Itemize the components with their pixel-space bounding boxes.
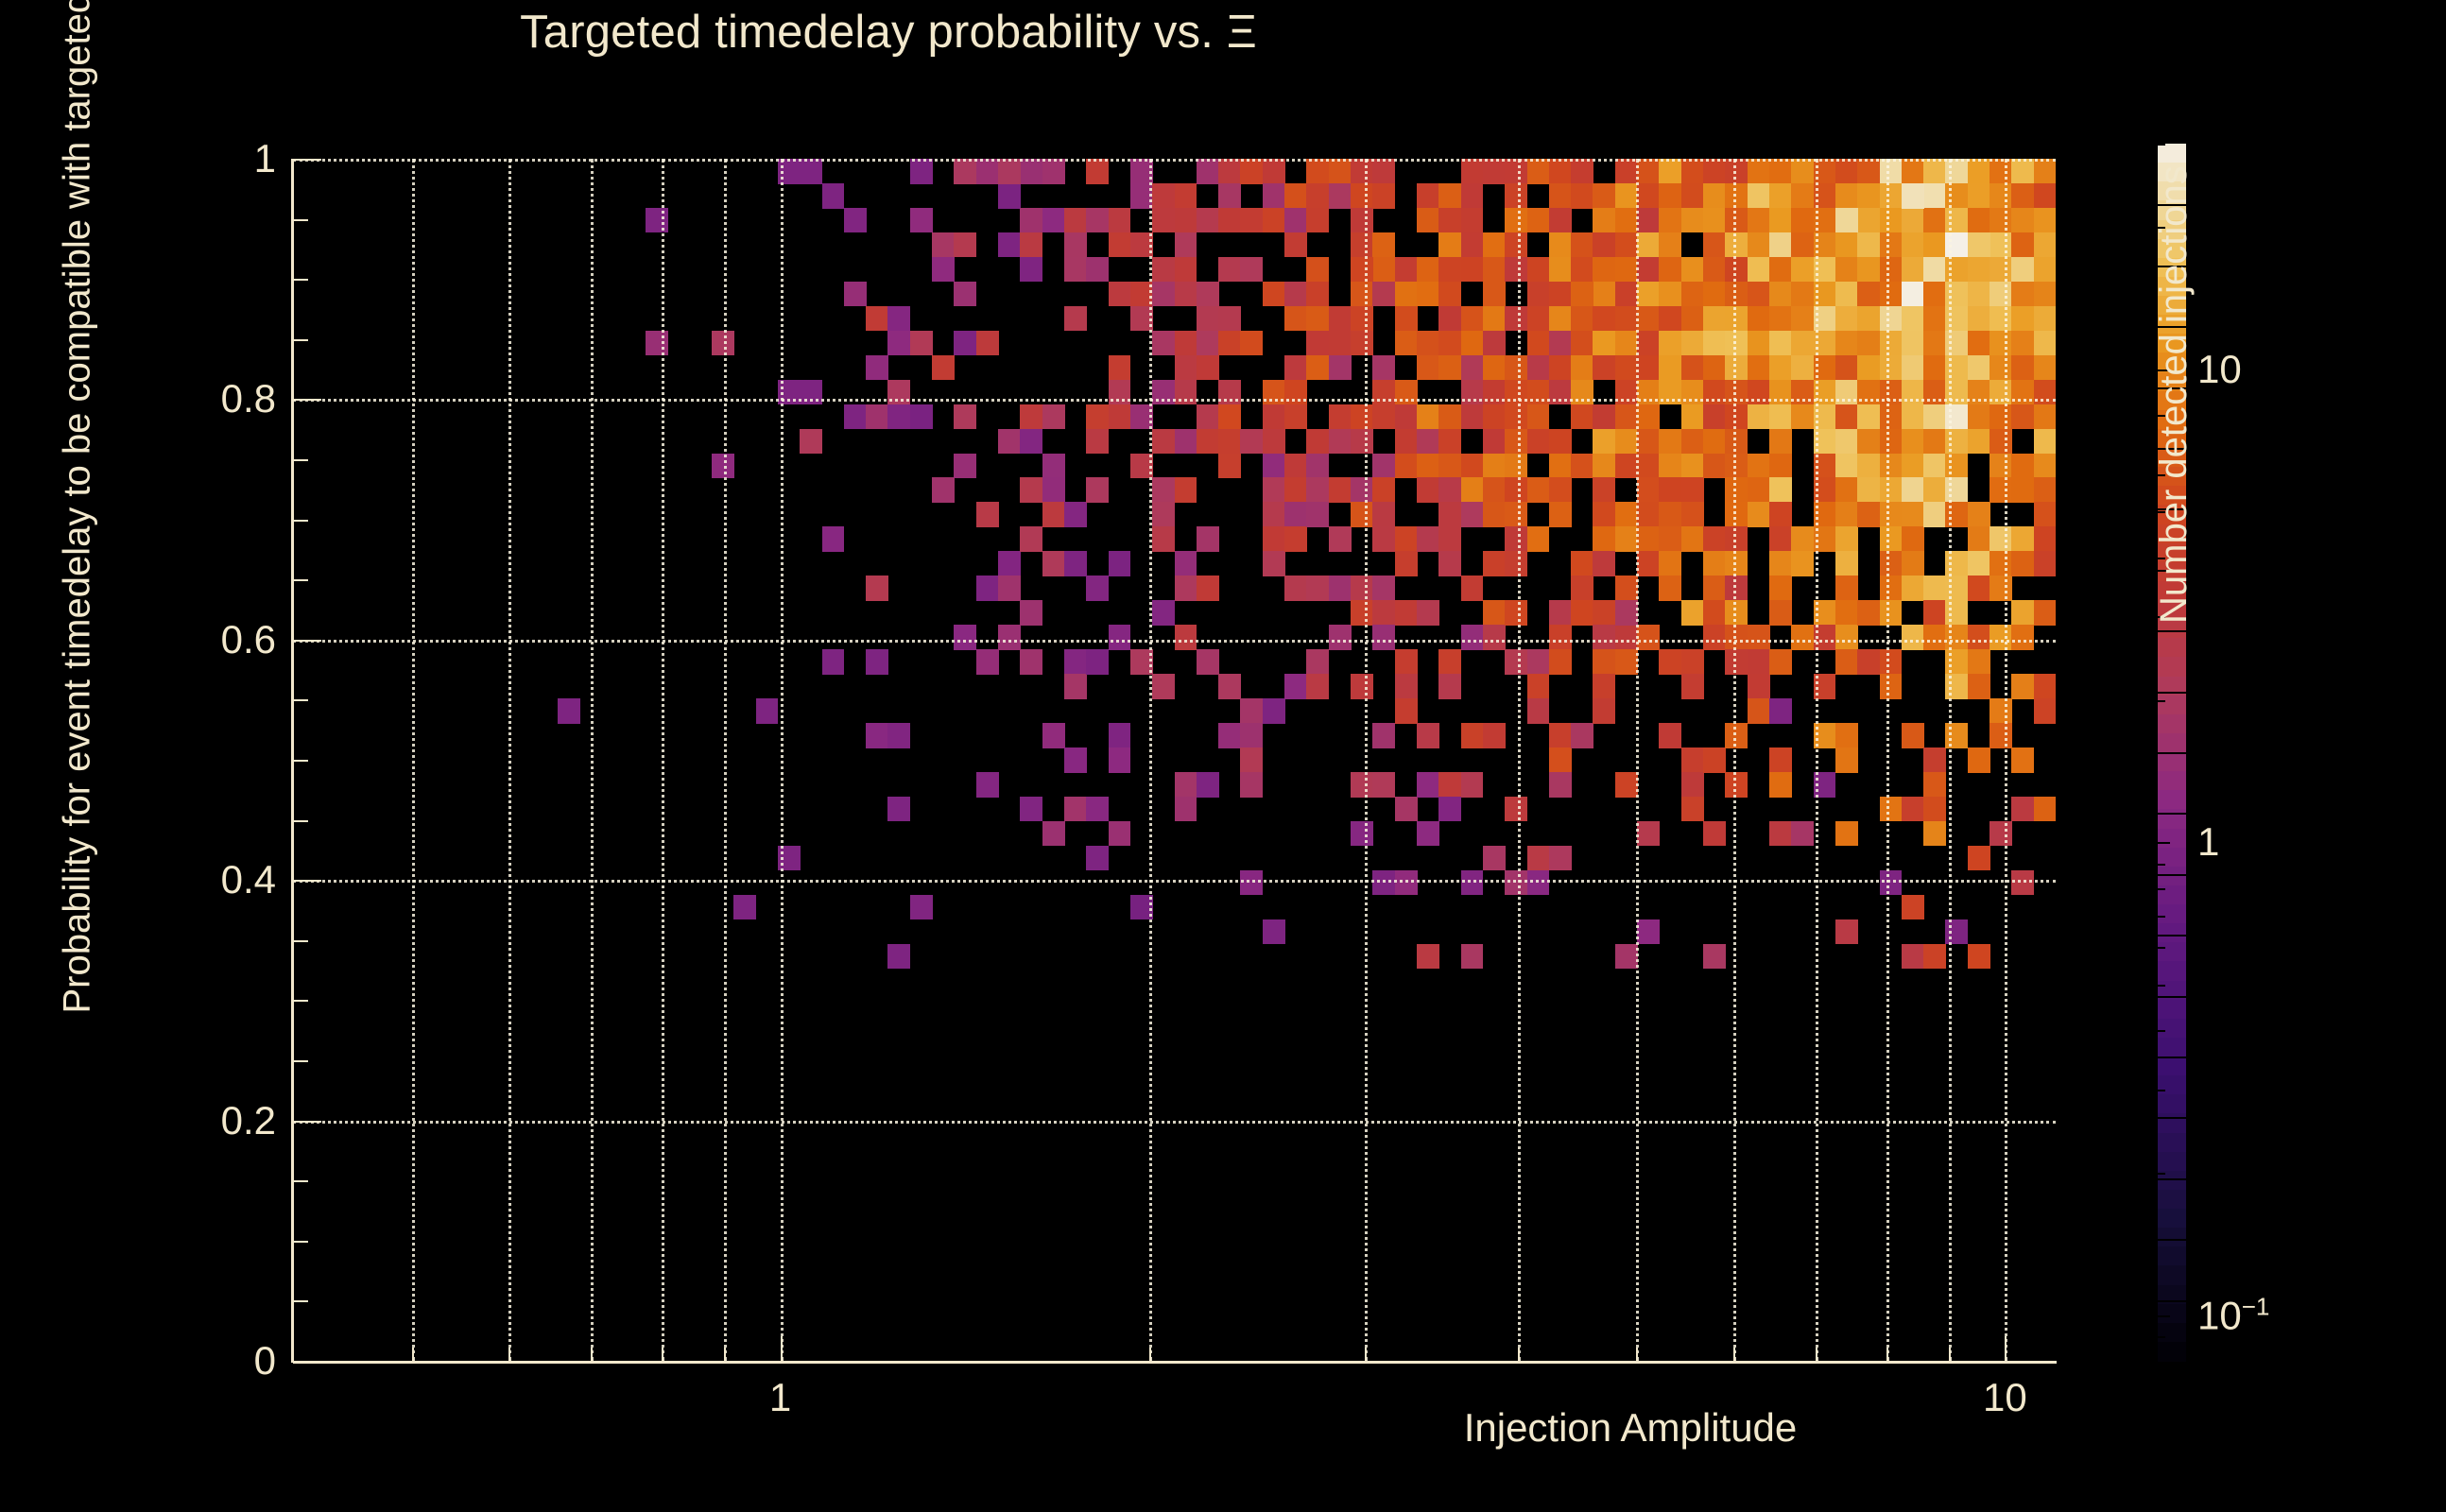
heatmap-cell bbox=[1461, 380, 1484, 405]
heatmap-cell bbox=[1461, 306, 1484, 332]
heatmap-cell bbox=[1351, 404, 1373, 430]
heatmap-cell bbox=[1372, 625, 1395, 650]
heatmap-cell bbox=[1020, 526, 1042, 552]
heatmap-cell bbox=[1417, 821, 1439, 847]
heatmap-cell bbox=[1637, 429, 1660, 455]
heatmap-cell bbox=[1835, 502, 1858, 527]
heatmap-cell bbox=[1902, 208, 1924, 233]
heatmap-cell bbox=[1814, 208, 1836, 233]
heatmap-cell bbox=[2034, 477, 2056, 503]
heatmap-cell bbox=[1438, 355, 1461, 381]
heatmap-cell bbox=[1769, 183, 1792, 209]
heatmap-cell bbox=[1263, 159, 1285, 184]
x-tick-minor bbox=[1886, 1348, 1888, 1363]
heatmap-cell bbox=[1395, 600, 1418, 626]
heatmap-cell bbox=[1990, 331, 2012, 356]
heatmap-cell bbox=[1659, 723, 1681, 748]
heatmap-cell bbox=[1990, 526, 2012, 552]
heatmap-cell bbox=[1990, 159, 2012, 184]
heatmap-cell bbox=[1857, 600, 1880, 626]
heatmap-cell bbox=[866, 355, 888, 381]
colorbar-segment bbox=[2158, 733, 2186, 753]
heatmap-cell bbox=[1703, 526, 1726, 552]
heatmap-cell bbox=[1681, 429, 1704, 455]
heatmap-cell bbox=[1152, 183, 1175, 209]
heatmap-cell bbox=[1615, 526, 1638, 552]
y-tick-label: 1 bbox=[254, 136, 276, 181]
colorbar-segment bbox=[2158, 904, 2186, 924]
heatmap-cell bbox=[1351, 159, 1373, 184]
heatmap-cell bbox=[1505, 257, 1527, 283]
heatmap-cell bbox=[1438, 282, 1461, 307]
heatmap-cell bbox=[1748, 159, 1770, 184]
colorbar-segment bbox=[2158, 638, 2186, 658]
heatmap-cell bbox=[910, 895, 933, 920]
heatmap-cell bbox=[1902, 477, 1924, 503]
heatmap-cell bbox=[1703, 576, 1726, 601]
heatmap-cell bbox=[1990, 551, 2012, 576]
heatmap-cell bbox=[1593, 454, 1615, 479]
heatmap-cell bbox=[1351, 600, 1373, 626]
heatmap-cell bbox=[1438, 502, 1461, 527]
heatmap-cell bbox=[1968, 282, 1990, 307]
colorbar-segment bbox=[2158, 696, 2186, 715]
colorbar-tick-minor bbox=[2158, 985, 2165, 987]
heatmap-cell bbox=[1748, 649, 1770, 675]
y-tick-minor bbox=[293, 520, 308, 522]
heatmap-cell bbox=[1968, 502, 1990, 527]
heatmap-cell bbox=[976, 772, 999, 798]
heatmap-cell bbox=[887, 797, 910, 822]
heatmap-cell bbox=[1329, 159, 1352, 184]
heatmap-cell bbox=[1483, 331, 1506, 356]
y-tick-major bbox=[293, 1361, 321, 1363]
heatmap-cell bbox=[1020, 600, 1042, 626]
heatmap-cell bbox=[1748, 404, 1770, 430]
heatmap-cell bbox=[2034, 208, 2056, 233]
heatmap-cell bbox=[1175, 429, 1197, 455]
heatmap-cell bbox=[1593, 526, 1615, 552]
heatmap-cell bbox=[1990, 723, 2012, 748]
heatmap-cell bbox=[1351, 502, 1373, 527]
heatmap-cell bbox=[1351, 576, 1373, 601]
heatmap-cell bbox=[1527, 429, 1550, 455]
heatmap-cell bbox=[1240, 723, 1263, 748]
heatmap-cell bbox=[1814, 404, 1836, 430]
heatmap-cell bbox=[1240, 870, 1263, 896]
y-tick-label: 0 bbox=[254, 1338, 276, 1383]
colorbar-divider bbox=[2158, 813, 2186, 815]
heatmap-cell bbox=[998, 576, 1021, 601]
heatmap-cell bbox=[1329, 625, 1352, 650]
heatmap-cell bbox=[1637, 526, 1660, 552]
heatmap-cell bbox=[1748, 355, 1770, 381]
heatmap-cell bbox=[1549, 846, 1572, 871]
heatmap-cell bbox=[1329, 526, 1352, 552]
heatmap-cell bbox=[998, 159, 1021, 184]
heatmap-cell bbox=[1372, 723, 1395, 748]
heatmap-cell bbox=[1857, 429, 1880, 455]
heatmap-cell bbox=[1042, 502, 1065, 527]
heatmap-cell bbox=[1438, 797, 1461, 822]
heatmap-cell bbox=[800, 429, 822, 455]
heatmap-cell bbox=[954, 282, 976, 307]
heatmap-cell bbox=[1703, 257, 1726, 283]
heatmap-cell bbox=[1769, 526, 1792, 552]
heatmap-cell bbox=[1461, 159, 1484, 184]
heatmap-cell bbox=[1483, 625, 1506, 650]
chart-title: Targeted timedelay probability vs. Ξ bbox=[0, 6, 1777, 59]
x-axis-line bbox=[293, 1361, 2057, 1364]
colorbar-segment bbox=[2158, 790, 2186, 810]
colorbar-segment bbox=[2158, 1209, 2186, 1228]
heatmap-cell bbox=[1902, 895, 1924, 920]
heatmap-cell bbox=[1593, 698, 1615, 724]
heatmap-cell bbox=[1681, 282, 1704, 307]
heatmap-cell bbox=[1042, 208, 1065, 233]
heatmap-cell bbox=[1681, 797, 1704, 822]
heatmap-cell bbox=[1945, 380, 1968, 405]
heatmap-cell bbox=[1306, 429, 1329, 455]
heatmap-cell bbox=[1703, 282, 1726, 307]
heatmap-cell bbox=[1968, 429, 1990, 455]
heatmap-cell bbox=[1064, 649, 1087, 675]
heatmap-cell bbox=[1571, 159, 1593, 184]
heatmap-cell bbox=[1748, 257, 1770, 283]
heatmap-cell bbox=[1880, 404, 1903, 430]
heatmap-cell bbox=[1923, 821, 1946, 847]
heatmap-cell bbox=[1549, 159, 1572, 184]
heatmap-cell bbox=[1703, 331, 1726, 356]
heatmap-cell bbox=[1990, 282, 2012, 307]
heatmap-cell bbox=[1945, 404, 1968, 430]
heatmap-cell bbox=[2011, 380, 2034, 405]
heatmap-cell bbox=[1351, 429, 1373, 455]
colorbar-segment bbox=[2158, 1246, 2186, 1266]
heatmap-cell bbox=[1681, 404, 1704, 430]
heatmap-cell bbox=[2011, 331, 2034, 356]
colorbar-segment bbox=[2158, 1323, 2186, 1343]
y-tick-label: 0.4 bbox=[221, 857, 276, 902]
heatmap-cell bbox=[1857, 355, 1880, 381]
heatmap-cell bbox=[1483, 723, 1506, 748]
heatmap-cell bbox=[2011, 257, 2034, 283]
y-tick-minor bbox=[293, 459, 308, 461]
heatmap-cell bbox=[1814, 674, 1836, 699]
heatmap-cell bbox=[1351, 306, 1373, 332]
heatmap-cell bbox=[1857, 454, 1880, 479]
heatmap-cell bbox=[1990, 454, 2012, 479]
colorbar-tick-label: 1 bbox=[2197, 819, 2219, 865]
heatmap-cell bbox=[887, 331, 910, 356]
heatmap-cell bbox=[1417, 331, 1439, 356]
heatmap-cell bbox=[1549, 355, 1572, 381]
heatmap-cell bbox=[1990, 232, 2012, 258]
heatmap-cell bbox=[1945, 723, 1968, 748]
heatmap-cell bbox=[1814, 526, 1836, 552]
heatmap-cell bbox=[1880, 232, 1903, 258]
heatmap-cell bbox=[1086, 576, 1109, 601]
heatmap-cell bbox=[1814, 477, 1836, 503]
heatmap-cell bbox=[1748, 331, 1770, 356]
heatmap-cell bbox=[1152, 674, 1175, 699]
heatmap-cell bbox=[1902, 404, 1924, 430]
heatmap-cell bbox=[1372, 772, 1395, 798]
heatmap-cell bbox=[1791, 159, 1814, 184]
heatmap-cell bbox=[954, 625, 976, 650]
heatmap-plot-area[interactable] bbox=[293, 159, 2056, 1361]
colorbar-segment bbox=[2158, 1057, 2186, 1076]
heatmap-cell bbox=[1020, 159, 1042, 184]
heatmap-cell bbox=[1218, 257, 1241, 283]
heatmap-cell bbox=[1615, 649, 1638, 675]
heatmap-cell bbox=[1835, 159, 1858, 184]
heatmap-cell bbox=[1637, 477, 1660, 503]
heatmap-cell bbox=[2034, 380, 2056, 405]
heatmap-cell bbox=[1175, 576, 1197, 601]
heatmap-cell bbox=[1703, 380, 1726, 405]
heatmap-cell bbox=[1527, 674, 1550, 699]
heatmap-cell bbox=[1968, 526, 1990, 552]
heatmap-cell bbox=[1990, 625, 2012, 650]
colorbar-tick-minor bbox=[2158, 947, 2165, 949]
heatmap-cell bbox=[1461, 944, 1484, 970]
heatmap-cell bbox=[822, 183, 845, 209]
heatmap-cell bbox=[1814, 355, 1836, 381]
heatmap-cell bbox=[712, 331, 734, 356]
heatmap-cell bbox=[1615, 331, 1638, 356]
heatmap-cell bbox=[1175, 331, 1197, 356]
heatmap-cell bbox=[1329, 404, 1352, 430]
heatmap-cell bbox=[1152, 502, 1175, 527]
heatmap-cell bbox=[1263, 551, 1285, 576]
heatmap-cell bbox=[1218, 306, 1241, 332]
heatmap-cell bbox=[1064, 257, 1087, 283]
heatmap-cell bbox=[1042, 551, 1065, 576]
heatmap-cell bbox=[1175, 625, 1197, 650]
heatmap-cell bbox=[1681, 649, 1704, 675]
heatmap-cell bbox=[1218, 429, 1241, 455]
heatmap-cell bbox=[558, 698, 580, 724]
heatmap-cell bbox=[1571, 257, 1593, 283]
heatmap-cell bbox=[1769, 404, 1792, 430]
heatmap-cell bbox=[1372, 526, 1395, 552]
heatmap-cell bbox=[1438, 477, 1461, 503]
heatmap-cell bbox=[1461, 723, 1484, 748]
heatmap-cell bbox=[1835, 551, 1858, 576]
heatmap-cell bbox=[2034, 232, 2056, 258]
y-tick-minor bbox=[293, 1241, 308, 1243]
heatmap-cell bbox=[1945, 355, 1968, 381]
x-tick-major bbox=[781, 1336, 783, 1363]
heatmap-cell bbox=[1703, 159, 1726, 184]
heatmap-cell bbox=[1945, 331, 1968, 356]
heatmap-cell bbox=[1306, 674, 1329, 699]
heatmap-cell bbox=[1902, 429, 1924, 455]
heatmap-cell bbox=[1372, 380, 1395, 405]
heatmap-cell bbox=[1968, 159, 1990, 184]
heatmap-cell bbox=[1615, 772, 1638, 798]
colorbar-divider bbox=[2158, 996, 2186, 998]
heatmap-cell bbox=[844, 282, 867, 307]
heatmap-cell bbox=[1725, 183, 1748, 209]
heatmap-cell bbox=[1681, 526, 1704, 552]
heatmap-cell bbox=[1109, 747, 1131, 773]
heatmap-cell bbox=[1880, 502, 1903, 527]
heatmap-cell bbox=[1438, 454, 1461, 479]
heatmap-cell bbox=[1902, 257, 1924, 283]
heatmap-cell bbox=[1152, 600, 1175, 626]
heatmap-cell bbox=[1571, 282, 1593, 307]
x-tick-minor bbox=[1365, 1348, 1367, 1363]
heatmap-cell bbox=[1748, 674, 1770, 699]
heatmap-cell bbox=[1372, 600, 1395, 626]
heatmap-cell bbox=[1880, 355, 1903, 381]
heatmap-cell bbox=[2034, 404, 2056, 430]
colorbar-segment bbox=[2158, 829, 2186, 849]
heatmap-cell bbox=[1681, 306, 1704, 332]
y-tick-major bbox=[293, 640, 321, 642]
heatmap-cell bbox=[1681, 331, 1704, 356]
heatmap-cell bbox=[1372, 870, 1395, 896]
y-tick-minor bbox=[293, 1300, 308, 1302]
heatmap-cell bbox=[1395, 404, 1418, 430]
heatmap-cell bbox=[1637, 355, 1660, 381]
x-tick-label: 1 bbox=[769, 1375, 791, 1420]
heatmap-cell bbox=[1814, 380, 1836, 405]
heatmap-cell bbox=[1923, 282, 1946, 307]
heatmap-cell bbox=[1681, 380, 1704, 405]
heatmap-cell bbox=[1990, 576, 2012, 601]
heatmap-cell bbox=[1197, 526, 1219, 552]
heatmap-cell bbox=[1923, 380, 1946, 405]
heatmap-cell bbox=[1329, 477, 1352, 503]
heatmap-cell bbox=[1902, 183, 1924, 209]
heatmap-cell bbox=[1659, 576, 1681, 601]
heatmap-cell bbox=[1284, 674, 1307, 699]
heatmap-cell bbox=[1527, 649, 1550, 675]
heatmap-cell bbox=[887, 404, 910, 430]
colorbar-tick-minor bbox=[2158, 1336, 2165, 1338]
heatmap-cell bbox=[1152, 526, 1175, 552]
heatmap-cell bbox=[932, 257, 955, 283]
heatmap-cell bbox=[1042, 404, 1065, 430]
heatmap-cell bbox=[1351, 232, 1373, 258]
heatmap-cell bbox=[1769, 747, 1792, 773]
heatmap-cell bbox=[1549, 208, 1572, 233]
heatmap-cell bbox=[1461, 208, 1484, 233]
heatmap-cell bbox=[1461, 502, 1484, 527]
heatmap-cell bbox=[1197, 331, 1219, 356]
colorbar-tick bbox=[2158, 842, 2170, 844]
heatmap-cell bbox=[756, 698, 779, 724]
heatmap-cell bbox=[1438, 526, 1461, 552]
heatmap-cell bbox=[1968, 355, 1990, 381]
heatmap-cell bbox=[1175, 797, 1197, 822]
heatmap-cell bbox=[1329, 429, 1352, 455]
heatmap-cell bbox=[1681, 257, 1704, 283]
heatmap-cell bbox=[1549, 477, 1572, 503]
heatmap-cell bbox=[1395, 797, 1418, 822]
heatmap-cell bbox=[1791, 355, 1814, 381]
x-axis-title: Injection Amplitude bbox=[1464, 1405, 1798, 1451]
heatmap-cell bbox=[1923, 625, 1946, 650]
heatmap-cell bbox=[1945, 454, 1968, 479]
colorbar-segment bbox=[2158, 1094, 2186, 1114]
heatmap-cell bbox=[1835, 257, 1858, 283]
heatmap-cell bbox=[1505, 551, 1527, 576]
heatmap-cell bbox=[1880, 331, 1903, 356]
heatmap-cell bbox=[1725, 600, 1748, 626]
heatmap-cell bbox=[1593, 625, 1615, 650]
heatmap-cell bbox=[1483, 551, 1506, 576]
heatmap-cell bbox=[1637, 551, 1660, 576]
heatmap-cell bbox=[998, 625, 1021, 650]
heatmap-cell bbox=[1218, 723, 1241, 748]
heatmap-cell bbox=[1923, 232, 1946, 258]
heatmap-cell bbox=[2011, 454, 2034, 479]
heatmap-cell bbox=[887, 306, 910, 332]
heatmap-cell bbox=[1769, 502, 1792, 527]
colorbar-tick bbox=[2158, 1315, 2170, 1317]
heatmap-cell bbox=[1527, 306, 1550, 332]
heatmap-cell bbox=[1417, 944, 1439, 970]
heatmap-cell bbox=[1395, 698, 1418, 724]
heatmap-cell bbox=[2011, 404, 2034, 430]
heatmap-cell bbox=[1615, 282, 1638, 307]
heatmap-cell bbox=[1748, 183, 1770, 209]
x-tick-minor bbox=[508, 1348, 510, 1363]
heatmap-cell bbox=[1020, 404, 1042, 430]
heatmap-cell bbox=[1549, 454, 1572, 479]
heatmap-cell bbox=[1835, 183, 1858, 209]
heatmap-cell bbox=[1681, 159, 1704, 184]
heatmap-cell bbox=[1263, 429, 1285, 455]
heatmap-cell bbox=[2011, 551, 2034, 576]
heatmap-cell bbox=[1571, 723, 1593, 748]
heatmap-cell bbox=[1527, 526, 1550, 552]
heatmap-cell bbox=[1372, 355, 1395, 381]
heatmap-cell bbox=[1593, 331, 1615, 356]
heatmap-cell bbox=[1593, 551, 1615, 576]
colorbar-divider bbox=[2158, 935, 2186, 936]
heatmap-cell bbox=[1438, 649, 1461, 675]
heatmap-cell bbox=[2034, 282, 2056, 307]
heatmap-cell bbox=[1438, 551, 1461, 576]
heatmap-cell bbox=[910, 208, 933, 233]
heatmap-cell bbox=[2011, 797, 2034, 822]
y-axis-title: Probability for event timedelay to be co… bbox=[57, 182, 99, 1014]
heatmap-cell bbox=[1240, 772, 1263, 798]
heatmap-cell bbox=[1351, 282, 1373, 307]
y-tick-label: 0.2 bbox=[221, 1098, 276, 1143]
heatmap-cell bbox=[1945, 429, 1968, 455]
colorbar-segment bbox=[2158, 714, 2186, 734]
heatmap-cell bbox=[1857, 183, 1880, 209]
heatmap-cell bbox=[1659, 649, 1681, 675]
heatmap-cell bbox=[1615, 576, 1638, 601]
heatmap-cell bbox=[1549, 429, 1572, 455]
heatmap-cell bbox=[1086, 404, 1109, 430]
heatmap-cell bbox=[1902, 159, 1924, 184]
heatmap-cell bbox=[1130, 306, 1153, 332]
heatmap-cell bbox=[1748, 625, 1770, 650]
heatmap-cell bbox=[1703, 944, 1726, 970]
heatmap-cell bbox=[1835, 380, 1858, 405]
heatmap-cell bbox=[1461, 870, 1484, 896]
heatmap-cell bbox=[887, 944, 910, 970]
colorbar-title: Number detected injections bbox=[2153, 0, 2196, 624]
